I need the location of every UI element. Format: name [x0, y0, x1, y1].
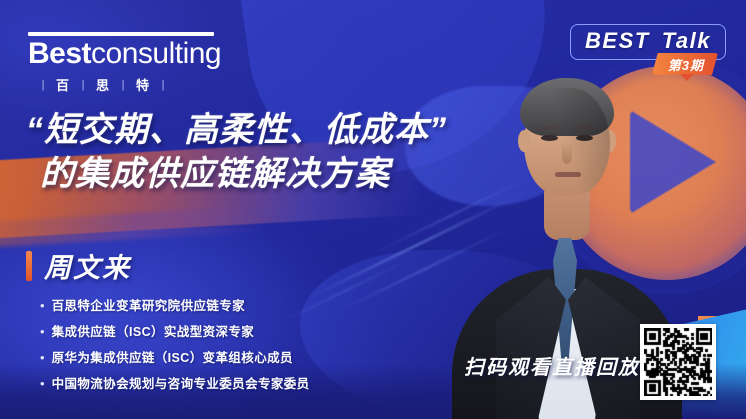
- logo-divider: |: [150, 79, 176, 91]
- logo-divider: |: [110, 79, 136, 91]
- headline-line-1: “短交期、高柔性、低成本”: [26, 108, 496, 152]
- logo-chinese-char-3: 特: [136, 75, 150, 94]
- headline: “短交期、高柔性、低成本” 的集成供应链解决方案: [26, 108, 496, 196]
- brand-logo: Bestconsulting | 百 | 思 | 特 |: [28, 32, 218, 94]
- credential-text: 百思特企业变革研究院供应链专家: [52, 295, 246, 314]
- list-item: • 百思特企业变革研究院供应链专家: [40, 295, 310, 314]
- logo-wordmark: Bestconsulting: [28, 38, 218, 70]
- credential-text: 集成供应链（ISC）实战型资深专家: [52, 321, 255, 340]
- speaker-name-accent-bar: [26, 251, 32, 281]
- qr-code[interactable]: [640, 324, 716, 400]
- logo-chinese-char-1: 百: [56, 75, 70, 94]
- list-item: • 中国物流协会规划与咨询专业委员会专家委员: [40, 373, 310, 392]
- logo-divider: |: [70, 79, 96, 91]
- credential-text: 原华为集成供应链（ISC）变革组核心成员: [52, 347, 293, 366]
- logo-rule: [28, 32, 214, 36]
- bullet-icon: •: [40, 299, 45, 312]
- logo-word-best: Best: [28, 37, 91, 70]
- bullet-icon: •: [40, 377, 45, 390]
- speaker-name-row: 周文来: [26, 246, 310, 285]
- bullet-icon: •: [40, 325, 45, 338]
- webinar-poster: Bestconsulting | 百 | 思 | 特 | BEST Talk 第…: [0, 0, 746, 419]
- list-item: • 集成供应链（ISC）实战型资深专家: [40, 321, 310, 340]
- best-talk-title-best: BEST: [585, 30, 650, 52]
- episode-tag-arrow: [680, 74, 694, 81]
- portrait-face-shading: [524, 88, 610, 196]
- speaker-credentials-list: • 百思特企业变革研究院供应链专家 • 集成供应链（ISC）实战型资深专家 • …: [26, 295, 310, 392]
- logo-word-consulting: consulting: [91, 37, 221, 70]
- best-talk-title-talk: Talk: [662, 30, 711, 52]
- logo-chinese-char-2: 思: [96, 75, 110, 94]
- credential-text: 中国物流协会规划与咨询专业委员会专家委员: [52, 373, 310, 392]
- qr-code-canvas: [644, 328, 712, 396]
- bullet-icon: •: [40, 351, 45, 364]
- speaker-name: 周文来: [44, 246, 131, 285]
- cta-text: 扫码观看直播回放: [464, 351, 640, 380]
- logo-chinese-name: | 百 | 思 | 特 |: [28, 75, 218, 94]
- logo-divider: |: [30, 79, 56, 91]
- list-item: • 原华为集成供应链（ISC）变革组核心成员: [40, 347, 310, 366]
- speaker-info: 周文来 • 百思特企业变革研究院供应链专家 • 集成供应链（ISC）实战型资深专…: [26, 246, 310, 399]
- headline-line-2: 的集成供应链解决方案: [26, 152, 496, 196]
